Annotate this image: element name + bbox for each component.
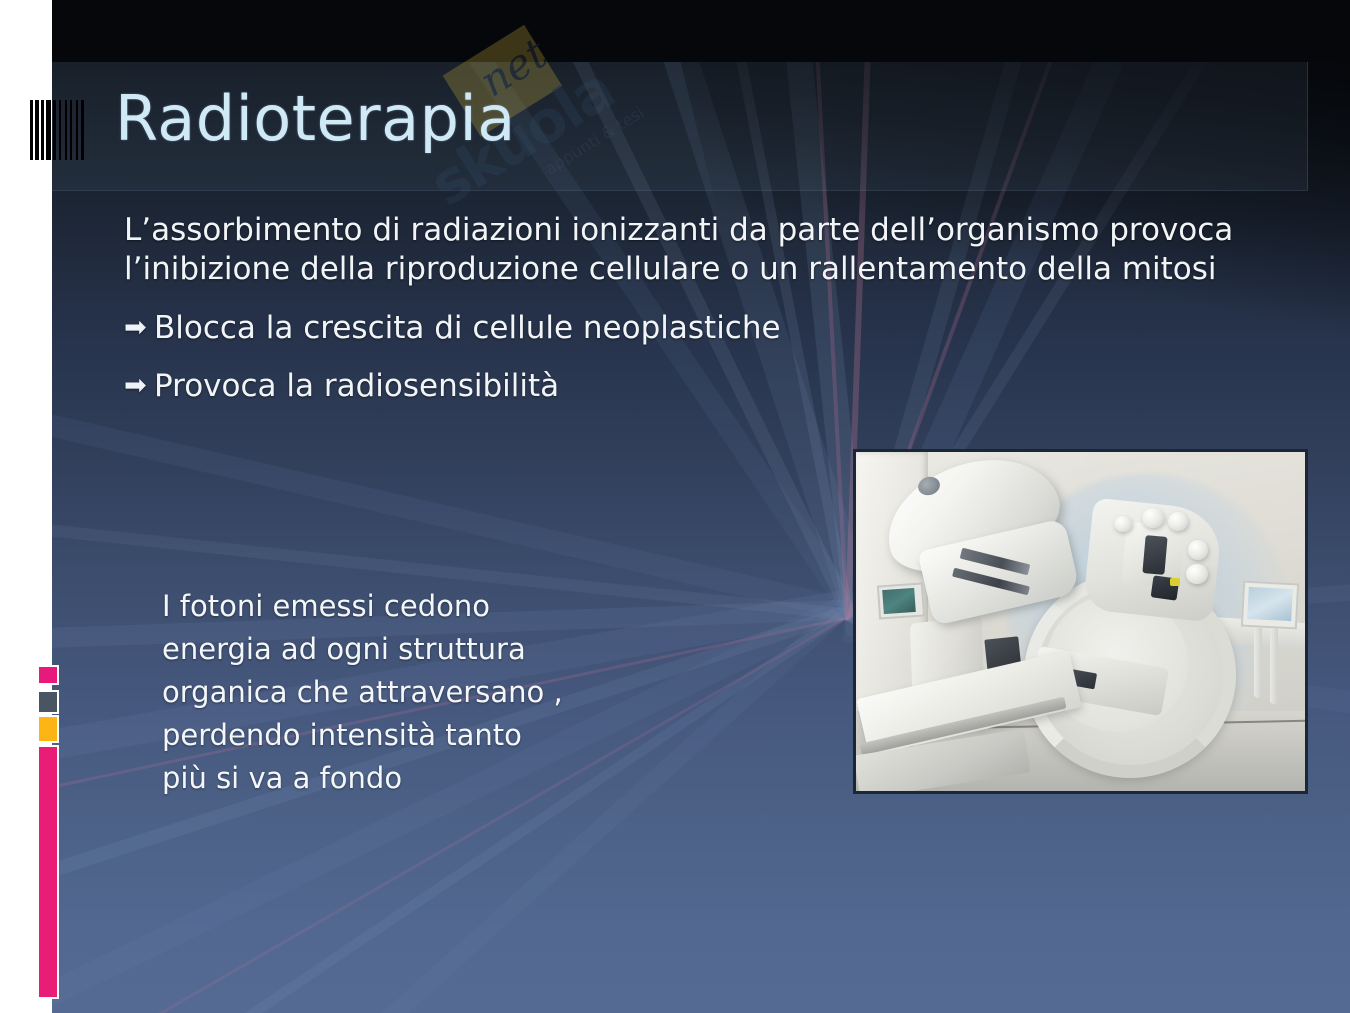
presentation-slide: net skuola appunti & tesi Radioterapia L…: [0, 0, 1350, 1013]
photo-accessory-dark-1: [1142, 535, 1167, 575]
photo-knob-4: [1186, 564, 1208, 584]
arrow-bullet-icon: ➡: [124, 307, 154, 349]
photo-knob-1: [1142, 508, 1164, 528]
chip-pink: [37, 665, 59, 685]
photo-knob-2: [1168, 512, 1188, 531]
caption-text: I fotoni emessi cedono energia ad ogni s…: [162, 585, 742, 800]
photo-knob-5: [1114, 516, 1132, 532]
bar-magenta: [37, 745, 59, 999]
body-paragraph: L’assorbimento di radiazioni ionizzanti …: [124, 211, 1284, 289]
arrow-bullet-icon: ➡: [124, 365, 154, 407]
photo-accessory-marker: [1170, 578, 1180, 586]
list-item: ➡ Blocca la crescita di cellule neoplast…: [124, 307, 1284, 349]
list-item: ➡ Provoca la radiosensibilità: [124, 365, 1284, 407]
slide-body: L’assorbimento di radiazioni ionizzanti …: [124, 211, 1284, 423]
photo-knob-3: [1188, 540, 1208, 560]
photo-monitor-left-screen: [882, 588, 916, 614]
bullet-label-2: Provoca la radiosensibilità: [154, 365, 559, 407]
linear-accelerator-photo: [853, 449, 1308, 794]
photo-cable-1: [1254, 628, 1262, 698]
chip-gray: [37, 690, 59, 714]
photo-content: [856, 452, 1305, 791]
bullet-label-1: Blocca la crescita di cellule neoplastic…: [154, 307, 781, 349]
photo-monitor-right-screen: [1247, 587, 1293, 621]
photo-cable-2: [1270, 628, 1278, 704]
chip-orange: [37, 715, 59, 743]
barcode-decoration-icon: [30, 100, 86, 160]
slide-title: Radioterapia: [115, 82, 516, 155]
